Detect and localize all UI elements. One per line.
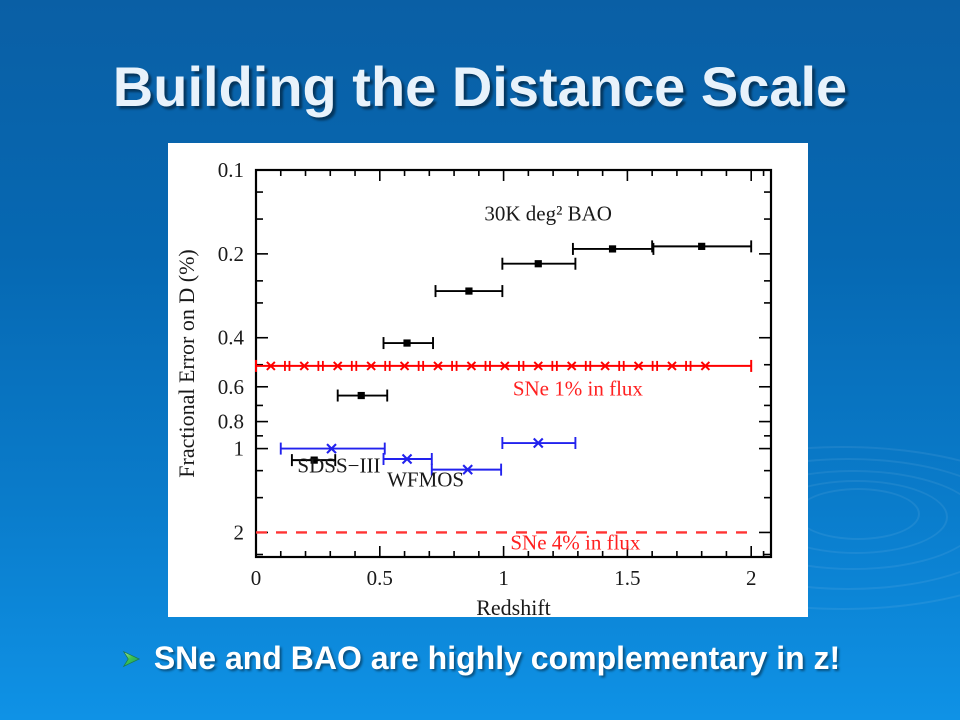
y-tick-label: 2 [234, 520, 245, 544]
x-tick-label: 0.5 [367, 566, 393, 590]
caption-text: SNe and BAO are highly complementary in … [154, 640, 840, 677]
y-ticks [256, 170, 771, 555]
plot-frame [256, 170, 771, 557]
data-point-marker [403, 339, 410, 346]
wfmos-label: WFMOS [387, 468, 464, 492]
data-series-group [256, 240, 751, 532]
series-sne-1-in-flux [256, 360, 751, 372]
x-tick-label: 2 [746, 566, 757, 590]
sne4-label: SNe 4% in flux [510, 530, 641, 554]
series-30k-deg-bao [292, 240, 751, 466]
y-tick-label: 0.2 [218, 242, 244, 266]
slide-title: Building the Distance Scale [0, 54, 960, 119]
sdss3-label: SDSS−III [297, 454, 380, 478]
distance-scale-chart: 00.511.52Redshift0.10.20.40.60.812Fracti… [168, 143, 808, 617]
data-point-marker [465, 287, 472, 294]
y-tick-label: 1 [234, 437, 245, 461]
green-arrow-bullet-icon [120, 648, 142, 670]
data-point-marker [698, 243, 705, 250]
axes-box [256, 170, 771, 557]
decorative-ripple [796, 488, 920, 540]
data-point-marker [609, 245, 616, 252]
x-tick-label: 0 [251, 566, 262, 590]
chart-annotations: 30K deg² BAOSNe 1% in fluxSNe 4% in flux… [297, 202, 643, 555]
caption-row: SNe and BAO are highly complementary in … [0, 640, 960, 677]
x-ticks [256, 170, 764, 557]
figure-panel: 00.511.52Redshift0.10.20.40.60.812Fracti… [168, 143, 808, 617]
y-tick-label: 0.8 [218, 410, 244, 434]
y-axis-label: Fractional Error on D (%) [174, 249, 199, 477]
slide-canvas: Building the Distance Scale 00.511.52Red… [0, 0, 960, 720]
data-point-marker [358, 392, 365, 399]
y-tick-label: 0.4 [218, 326, 245, 350]
y-tick-label: 0.6 [218, 375, 244, 399]
data-point-marker [535, 260, 542, 267]
bao-label: 30K deg² BAO [484, 202, 612, 226]
y-tick-label: 0.1 [218, 158, 244, 182]
x-tick-label: 1.5 [614, 566, 640, 590]
x-axis-label: Redshift [476, 595, 551, 617]
sne1-label: SNe 1% in flux [513, 377, 644, 401]
x-tick-label: 1 [498, 566, 509, 590]
